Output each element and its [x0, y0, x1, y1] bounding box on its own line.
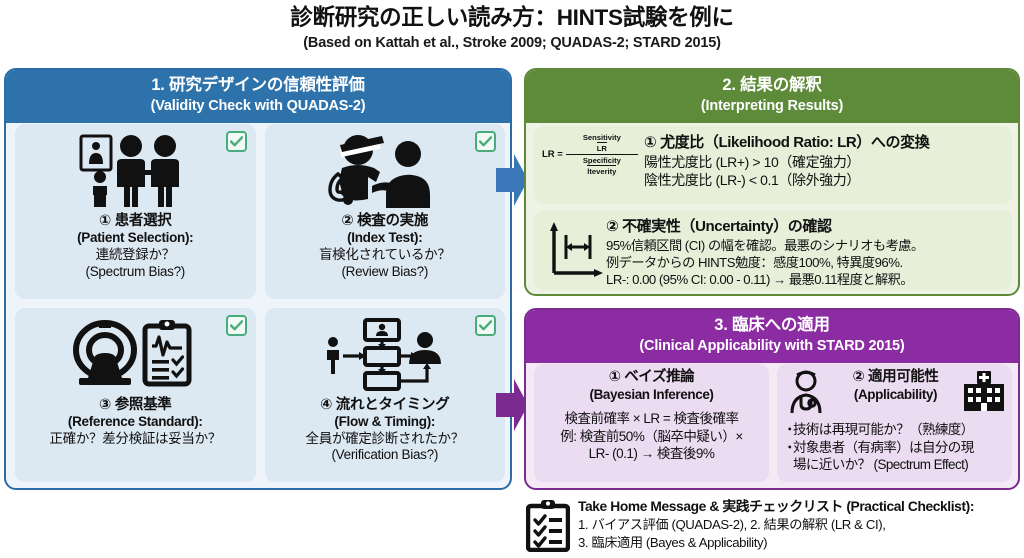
panel2-header-en: (Interpreting Results) [530, 98, 1014, 115]
checkbox-checked-icon[interactable] [475, 131, 496, 152]
confidence-interval-icon [540, 217, 606, 279]
card-question-2: (Review Bias?) [319, 264, 451, 281]
take-home-line-2: 1. バイアス評価 (QUADAS-2), 2. 結果の解釈 (LR & CI)… [578, 516, 974, 533]
blinded-doctor-icon [324, 132, 446, 210]
hospital-icon [962, 369, 1006, 418]
bayes-title-en: (Bayesian Inference) [589, 387, 713, 403]
lr-negative-line: 陰性尤度比 (LR-) < 0.1（除外強力） [644, 171, 1004, 189]
panel2-header: 2. 結果の解釈 (Interpreting Results) [526, 70, 1018, 123]
quadas-card-caption: ② 検査の実施 (Index Test): 盲検化されているか？ (Review… [319, 212, 451, 281]
doctor-icon [783, 369, 829, 420]
lr-formula-main-bar [566, 154, 638, 156]
lr-formula-den-top: Specificity [583, 156, 621, 165]
clinical-box-applicability[interactable]: ② 適用可能性 (Applicability) [777, 364, 1012, 482]
take-home-line-1: Take Home Message & 実践チェックリスト (Practical… [578, 498, 974, 516]
panel1-header-en: (Validity Check with QUADAS-2) [10, 98, 506, 115]
applicability-title: ② 適用可能性 (Applicability) [831, 369, 960, 403]
card-question-1: 全員が確定診断されたか？ [306, 431, 464, 448]
take-home-text: Take Home Message & 実践チェックリスト (Practical… [578, 498, 974, 551]
results-box-uncertainty[interactable]: ② 不確実性（Uncertainty）の確認 95%信頼区間 (CI) の幅を確… [534, 210, 1012, 290]
lr-formula-graphic: LR = Sensitivity LR Specificity lteverit… [540, 133, 644, 176]
card-question-1: 連続登録か？ [77, 247, 193, 264]
uncertainty-box-title: ② 不確実性（Uncertainty）の確認 [606, 217, 1004, 237]
lr-positive-line: 陽性尤度比 (LR+) > 10（確定強力） [644, 153, 1004, 171]
panel-validity-check: 1. 研究デザインの信頼性評価 (Validity Check with QUA… [4, 68, 512, 490]
applicability-bullet-2-text-cont: 場に近いか？ (Spectrum Effect) [793, 456, 968, 474]
checkbox-checked-icon[interactable] [475, 315, 496, 336]
checkbox-checked-icon[interactable] [226, 315, 247, 336]
panel3-header-ja: 3. 臨床への適用 [530, 316, 1014, 336]
quadas-card-caption: ① 患者選択 (Patient Selection): 連続登録か？ (Spec… [77, 212, 193, 281]
uncertainty-box-text: ② 不確実性（Uncertainty）の確認 95%信頼区間 (CI) の幅を確… [606, 217, 1004, 288]
quadas-card-caption: ④ 流れとタイミング (Flow & Timing): 全員が確定診断されたか？… [306, 396, 464, 465]
checkbox-checked-icon[interactable] [226, 131, 247, 152]
results-box-likelihood-ratio[interactable]: LR = Sensitivity LR Specificity lteverit… [534, 126, 1012, 204]
applicability-title-en: (Applicability) [831, 387, 960, 403]
take-home-line-3: 3. 臨床適用 (Bayes & Applicability) [578, 534, 974, 551]
quadas-card-reference-standard[interactable]: ③ 参照基準 (Reference Standard): 正確か？差分検証は妥当… [15, 308, 256, 483]
applicability-title-ja: ② 適用可能性 [831, 369, 960, 387]
panel3-header: 3. 臨床への適用 (Clinical Applicability with S… [526, 310, 1018, 363]
card-question-2: (Spectrum Bias?) [77, 264, 193, 281]
applicability-bullets: ・ 技術は再現可能か？（熟練度） ・ 対象患者（有病率）は自分の現 場に近いか？… [783, 421, 1006, 474]
card-title-ja: ④ 流れとタイミング [306, 396, 464, 414]
take-home-message: Take Home Message & 実践チェックリスト (Practical… [524, 498, 1024, 556]
card-title-ja: ③ 参照基準 [49, 396, 221, 414]
card-title-en: (Patient Selection): [77, 230, 193, 247]
quadas-card-caption: ③ 参照基準 (Reference Standard): 正確か？差分検証は妥当… [49, 396, 221, 448]
bayes-title-ja: ① ベイズ推論 [589, 369, 713, 387]
panel2-header-ja: 2. 結果の解釈 [530, 76, 1014, 96]
lr-box-text: ① 尤度比（Likelihood Ratio: LR）への変換 陽性尤度比 (L… [644, 133, 1004, 189]
panel3-header-en: (Clinical Applicability with STARD 2015) [530, 338, 1014, 355]
lr-formula-num-top: Sensitivity [583, 133, 621, 142]
quadas-card-grid: ① 患者選択 (Patient Selection): 連続登録か？ (Spec… [15, 124, 505, 482]
infographic-root: 診断研究の正しい読み方：HINTS試験を例に (Based on Kattah … [0, 0, 1024, 558]
lr-formula-num-bottom: LR [597, 142, 607, 153]
patient-group-icon [79, 132, 191, 210]
applicability-bullet-1-text: 技術は再現可能か？（熟練度） [793, 421, 974, 439]
bayes-line-3: LR- (0.1) → 検査後9% [560, 445, 742, 463]
bayes-title: ① ベイズ推論 (Bayesian Inference) [589, 369, 713, 403]
lr-formula-lhs: LR = [542, 149, 563, 160]
flowchart-icon [321, 316, 449, 394]
clinical-box-grid: ① ベイズ推論 (Bayesian Inference) 検査前確率 × LR … [534, 364, 1012, 482]
panel-interpreting-results: 2. 結果の解釈 (Interpreting Results) LR = Sen… [524, 68, 1020, 296]
applicability-bullet-2-cont: 場に近いか？ (Spectrum Effect) [783, 456, 1006, 474]
page-title: 診断研究の正しい読み方：HINTS試験を例に [0, 4, 1024, 32]
bullet-marker: ・ [783, 439, 793, 457]
title-block: 診断研究の正しい読み方：HINTS試験を例に (Based on Kattah … [0, 4, 1024, 51]
bayes-line-1: 検査前確率 × LR = 検査後確率 [560, 410, 742, 428]
uncertainty-line-1: 95%信頼区間 (CI) の幅を確認。最悪のシナリオも考慮。 [606, 237, 1004, 254]
card-question-1: 盲検化されているか？ [319, 247, 451, 264]
page-subtitle: (Based on Kattah et al., Stroke 2009; QU… [0, 35, 1024, 51]
card-title-en: (Reference Standard): [49, 414, 221, 431]
card-question-1: 正確か？差分検証は妥当か？ [49, 431, 221, 448]
panel1-header-ja: 1. 研究デザインの信頼性評価 [10, 76, 506, 96]
bayes-body: 検査前確率 × LR = 検査後確率 例: 検査前50%（脳卒中疑い）× LR-… [560, 410, 742, 463]
panel1-header: 1. 研究デザインの信頼性評価 (Validity Check with QUA… [6, 70, 510, 123]
card-question-2: (Verification Bias?) [306, 447, 464, 464]
clinical-box-bayesian-inference[interactable]: ① ベイズ推論 (Bayesian Inference) 検査前確率 × LR … [534, 364, 769, 482]
quadas-card-patient-selection[interactable]: ① 患者選択 (Patient Selection): 連続登録か？ (Spec… [15, 124, 256, 299]
panel-clinical-applicability: 3. 臨床への適用 (Clinical Applicability with S… [524, 308, 1020, 490]
applicability-header: ② 適用可能性 (Applicability) [783, 369, 1006, 420]
uncertainty-line-2: 例データからの HINTS勉度：感度100%, 特異度96%. [606, 254, 1004, 271]
bayes-line-2: 例: 検査前50%（脳卒中疑い）× [560, 428, 742, 446]
lr-formula-den-bottom: lteverity [587, 165, 616, 176]
quadas-card-flow-timing[interactable]: ④ 流れとタイミング (Flow & Timing): 全員が確定診断されたか？… [265, 308, 506, 483]
card-title-ja: ② 検査の実施 [319, 212, 451, 230]
card-title-en: (Flow & Timing): [306, 414, 464, 431]
card-title-ja: ① 患者選択 [77, 212, 193, 230]
applicability-bullet-1: ・ 技術は再現可能か？（熟練度） [783, 421, 1006, 439]
applicability-bullet-2-text: 対象患者（有病率）は自分の現 [793, 439, 974, 457]
bullet-marker: ・ [783, 421, 793, 439]
applicability-bullet-2: ・ 対象患者（有病率）は自分の現 [783, 439, 1006, 457]
card-title-en: (Index Test): [319, 230, 451, 247]
uncertainty-line-3: LR-: 0.00 (95% CI: 0.00 - 0.11) → 最悪0.11… [606, 271, 1004, 288]
lr-box-title: ① 尤度比（Likelihood Ratio: LR）への変換 [644, 133, 1004, 153]
clipboard-checklist-icon [524, 498, 578, 557]
mri-clipboard-icon [73, 316, 197, 394]
quadas-card-index-test[interactable]: ② 検査の実施 (Index Test): 盲検化されているか？ (Review… [265, 124, 506, 299]
